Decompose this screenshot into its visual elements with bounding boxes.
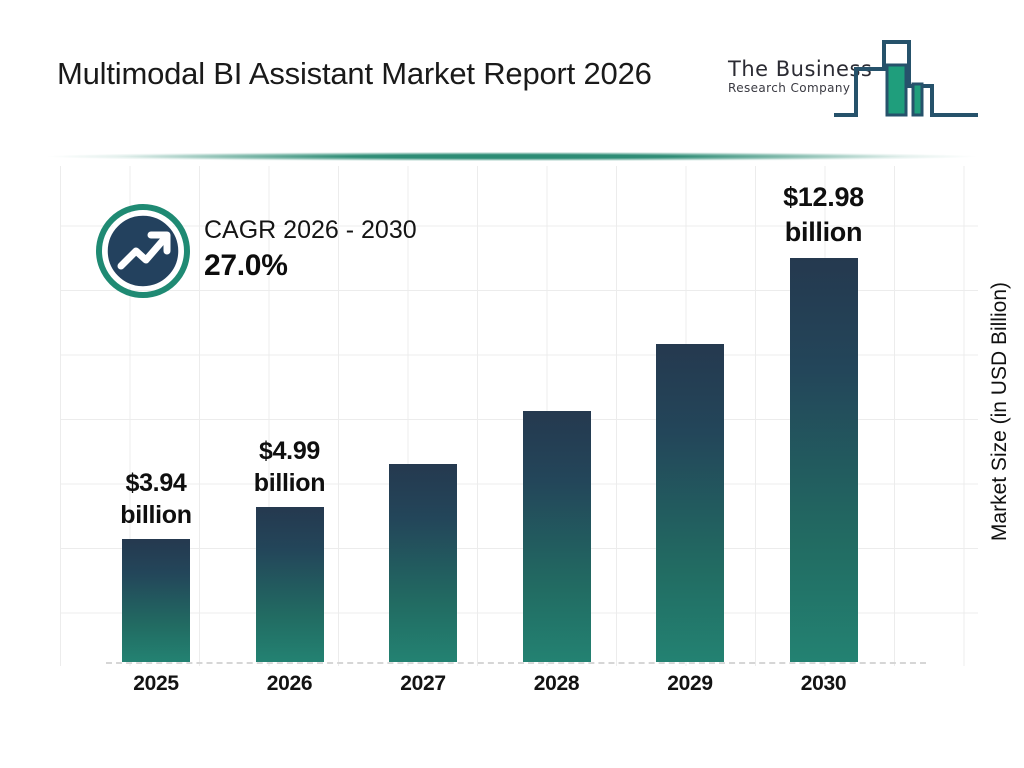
cagr-value-label: 27.0%	[204, 246, 504, 286]
bar-chart-logo-mark	[834, 36, 978, 122]
cagr-text-block: CAGR 2026 - 2030 27.0%	[204, 214, 504, 286]
market-report-chart-page: Multimodal BI Assistant Market Report 20…	[0, 0, 1024, 768]
bar-2030[interactable]	[790, 258, 858, 662]
trending-up-arrow-icon	[96, 204, 190, 298]
bar-2026[interactable]	[256, 507, 324, 662]
x-axis-tick-2030: 2030	[764, 672, 884, 696]
bar-2029[interactable]	[656, 344, 724, 662]
bar-value-amount: $12.98	[739, 180, 909, 215]
x-axis-tick-2027: 2027	[363, 672, 483, 696]
bar-value-unit: billion	[205, 467, 375, 499]
x-axis-labels: 202520262027202820292030	[0, 672, 1024, 712]
y-axis-title: Market Size (in USD Billion)	[988, 282, 1012, 541]
x-axis-tick-2028: 2028	[497, 672, 617, 696]
bar-2025[interactable]	[122, 539, 190, 662]
bar-value-amount: $4.99	[205, 435, 375, 467]
bar-value-unit: billion	[739, 215, 909, 250]
cagr-range-label: CAGR 2026 - 2030	[204, 214, 504, 246]
header-divider	[46, 152, 978, 161]
bar-2028[interactable]	[523, 411, 591, 662]
chart-baseline	[106, 662, 926, 664]
bar-2027[interactable]	[389, 464, 457, 662]
report-header: Multimodal BI Assistant Market Report 20…	[0, 0, 1024, 152]
company-logo: The Business Research Company	[728, 36, 978, 136]
x-axis-tick-2029: 2029	[630, 672, 750, 696]
bar-value-unit: billion	[71, 499, 241, 531]
x-axis-tick-2026: 2026	[230, 672, 350, 696]
bar-value-label-2026: $4.99billion	[205, 435, 375, 499]
page-title: Multimodal BI Assistant Market Report 20…	[57, 50, 717, 98]
bar-value-label-2030: $12.98billion	[739, 180, 909, 250]
cagr-callout: CAGR 2026 - 2030 27.0%	[96, 204, 516, 304]
x-axis-tick-2025: 2025	[96, 672, 216, 696]
